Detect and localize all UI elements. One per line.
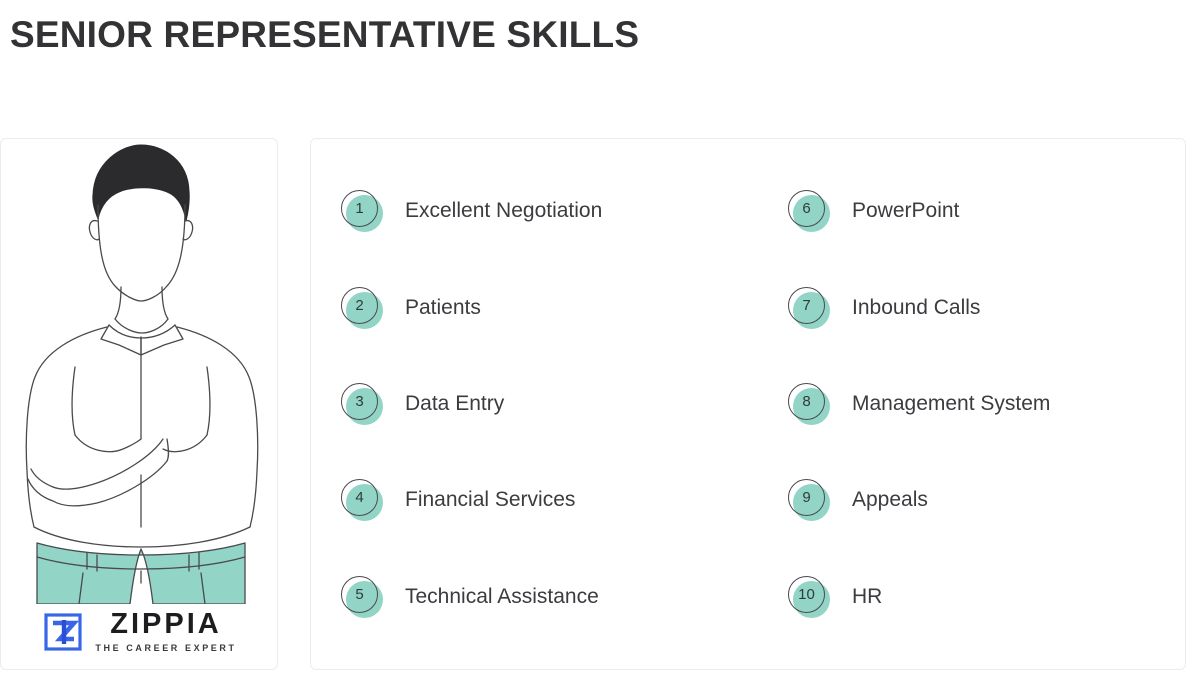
neck-left xyxy=(115,287,121,319)
skill-number-badge: 2 xyxy=(341,287,383,329)
skills-card: 1 Excellent Negotiation 2 Patients 3 Dat… xyxy=(310,138,1186,670)
zippia-tagline: THE CAREER EXPERT xyxy=(95,644,236,653)
collar-right xyxy=(141,325,183,355)
person-arms-crossed-illustration xyxy=(1,139,278,604)
skill-number-badge: 10 xyxy=(788,576,830,618)
skill-number-badge: 4 xyxy=(341,479,383,521)
forearm-lower-right-b xyxy=(53,461,167,506)
sleeve-seam-right xyxy=(207,367,210,435)
badge-number: 6 xyxy=(802,201,810,216)
badge-number: 8 xyxy=(802,394,810,409)
badge-ring: 10 xyxy=(788,576,825,613)
neck-base xyxy=(115,319,168,333)
skill-item-2[interactable]: 2 Patients xyxy=(311,259,748,355)
skill-item-8[interactable]: 8 Management System xyxy=(748,356,1185,452)
elbow-left-b xyxy=(28,479,53,501)
face xyxy=(98,205,185,301)
badge-number: 5 xyxy=(355,587,363,602)
zippia-wordmark: ZIPPIA xyxy=(110,610,221,639)
skill-label: Technical Assistance xyxy=(405,585,599,609)
skill-number-badge: 5 xyxy=(341,576,383,618)
skill-item-3[interactable]: 3 Data Entry xyxy=(311,356,748,452)
skill-item-6[interactable]: 6 PowerPoint xyxy=(748,163,1185,259)
badge-number: 10 xyxy=(798,587,815,602)
zippia-z-mark-icon xyxy=(43,612,83,652)
torso-left xyxy=(26,327,107,527)
forearm-upper-right xyxy=(163,435,207,452)
badge-ring: 3 xyxy=(341,383,378,420)
badge-number: 2 xyxy=(355,298,363,313)
skill-number-badge: 1 xyxy=(341,190,383,232)
badge-ring: 8 xyxy=(788,383,825,420)
badge-number: 1 xyxy=(355,201,363,216)
skill-item-4[interactable]: 4 Financial Services xyxy=(311,452,748,548)
badge-number: 4 xyxy=(355,490,363,505)
skill-number-badge: 3 xyxy=(341,383,383,425)
skill-item-10[interactable]: 10 HR xyxy=(748,549,1185,645)
hair xyxy=(93,145,189,221)
torso-right xyxy=(177,327,258,527)
sleeve-seam-left xyxy=(72,367,75,435)
forearm-upper-left xyxy=(75,435,141,452)
skill-item-9[interactable]: 9 Appeals xyxy=(748,452,1185,548)
skill-number-badge: 7 xyxy=(788,287,830,329)
badge-ring: 7 xyxy=(788,287,825,324)
skill-label: Inbound Calls xyxy=(852,296,980,320)
skill-number-badge: 8 xyxy=(788,383,830,425)
skills-list: 1 Excellent Negotiation 2 Patients 3 Dat… xyxy=(311,139,1185,669)
skill-label: Excellent Negotiation xyxy=(405,199,602,223)
skill-label: Management System xyxy=(852,392,1050,416)
skill-label: Appeals xyxy=(852,488,928,512)
badge-ring: 2 xyxy=(341,287,378,324)
shirt-hem xyxy=(34,527,250,547)
skill-label: Patients xyxy=(405,296,481,320)
ear-left xyxy=(89,221,99,240)
skill-item-5[interactable]: 5 Technical Assistance xyxy=(311,549,748,645)
badge-ring: 1 xyxy=(341,190,378,227)
badge-number: 9 xyxy=(802,490,810,505)
skill-label: Data Entry xyxy=(405,392,504,416)
forearm-lower-right xyxy=(53,439,163,489)
page-title: SENIOR REPRESENTATIVE SKILLS xyxy=(10,14,639,56)
badge-ring: 5 xyxy=(341,576,378,613)
skill-label: PowerPoint xyxy=(852,199,959,223)
neck-right xyxy=(162,287,168,319)
skill-label: HR xyxy=(852,585,882,609)
illustration-card: ZIPPIA THE CAREER EXPERT xyxy=(0,138,278,670)
skill-item-1[interactable]: 1 Excellent Negotiation xyxy=(311,163,748,259)
badge-number: 7 xyxy=(802,298,810,313)
collar-band xyxy=(109,325,175,338)
badge-ring: 6 xyxy=(788,190,825,227)
skill-item-7[interactable]: 7 Inbound Calls xyxy=(748,259,1185,355)
skill-number-badge: 6 xyxy=(788,190,830,232)
badge-number: 3 xyxy=(355,394,363,409)
collar-left xyxy=(101,325,141,355)
skill-label: Financial Services xyxy=(405,488,575,512)
elbow-left xyxy=(31,469,53,487)
zippia-logo[interactable]: ZIPPIA THE CAREER EXPERT xyxy=(1,610,278,653)
skill-number-badge: 9 xyxy=(788,479,830,521)
